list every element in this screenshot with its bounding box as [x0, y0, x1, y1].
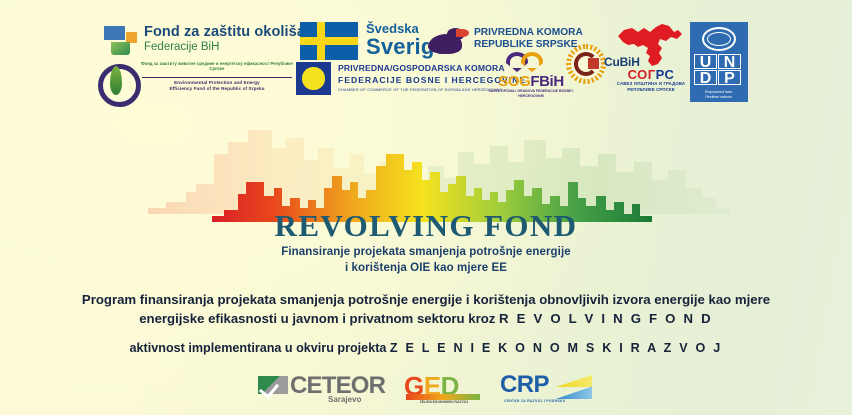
- poster-root: Fond za zaštitu okoliša Federacije BiH Ф…: [0, 0, 852, 415]
- sogrs-name-part2: РС: [656, 67, 675, 82]
- sogfbih-name-part1: SOG: [498, 73, 530, 90]
- sogfbih-name: SOGFBiH: [488, 73, 574, 90]
- cubih-square-icon: [588, 58, 599, 69]
- crp-name: CRP: [500, 371, 549, 399]
- logo-undp[interactable]: U N D P Empowered lives. Resilient natio…: [690, 22, 748, 102]
- activity-line-pre: aktivnost implementirana u okviru projek…: [130, 341, 387, 355]
- logo-ged[interactable]: GED ZELENI EKONOMSKI RAZVOJ: [404, 374, 496, 406]
- program-paragraph-line2-spaced: R E V O L V I N G F O N D: [499, 311, 713, 326]
- logo-fond-za-zastitu-okolisa-fbih[interactable]: Fond za zaštitu okoliša Federacije BiH: [104, 24, 294, 60]
- un-emblem-icon: [702, 27, 736, 51]
- sogrs-name-part1: СОГ: [628, 67, 656, 82]
- activity-line: aktivnost implementirana u okviru projek…: [40, 341, 812, 355]
- logo-ceteor[interactable]: CETEOR Sarajevo: [258, 374, 390, 406]
- undp-caption: Empowered lives. Resilient nations.: [693, 90, 745, 99]
- fzo-line1: Fond za zaštitu okoliša: [144, 24, 305, 40]
- fzo-mark-icon: [104, 26, 138, 56]
- sogrs-caption: САВЕЗ ОПШТИНА И ГРАДОВА РЕПУБЛИКЕ СРПСКЕ: [608, 81, 694, 93]
- pkrs-line2: REPUBLIKE SRPSKE: [474, 39, 578, 50]
- pkrs-line1: PRIVREDNA KOMORA: [474, 27, 583, 38]
- subtitle-line-1: Finansiranje projekata smanjenja potrošn…: [0, 246, 852, 258]
- epeef-english-line1: Environmental Protection and Energy: [174, 80, 260, 85]
- sogrs-name: СОГРС: [608, 67, 694, 82]
- sogrs-caption-line1: САВЕЗ ОПШТИНА И ГРАДОВА: [617, 81, 685, 86]
- sweden-flag-icon: [300, 22, 358, 60]
- undp-letter-p: P: [718, 70, 741, 85]
- undp-letter-u: U: [694, 54, 717, 69]
- undp-letter-d: D: [694, 70, 717, 85]
- epeef-english-text: Environmental Protection and Energy Effi…: [138, 80, 296, 92]
- partner-logo-band: Fond za zaštitu okoliša Federacije BiH Ф…: [0, 0, 852, 112]
- sogrs-caption-line2: РЕПУБЛИКЕ СРПСКЕ: [627, 87, 675, 92]
- pkfbih-line3: CHAMBER OF COMMERCE OF THE FEDERATION OF…: [338, 87, 502, 92]
- program-paragraph-line1: Program finansiranja projekata smanjenja…: [82, 292, 770, 307]
- bird-icon: [428, 28, 468, 54]
- twin-hearts-icon: [506, 52, 558, 74]
- epeef-english-line2: Efficiency Fund of the Republic of Srpsk…: [170, 86, 265, 91]
- logo-crp[interactable]: CRP CENTAR ZA RAZVOJ I PODRŠKU: [500, 374, 596, 406]
- undp-caption-line2: Resilient nations.: [705, 95, 732, 99]
- epeef-cyrillic-text: Фонд за заштиту животне средине и енерге…: [138, 61, 296, 72]
- republika-srpska-map-icon: [614, 20, 686, 68]
- implementer-logo-band: CETEOR Sarajevo GED ZELENI EKONOMSKI RAZ…: [0, 372, 852, 412]
- sogfbih-name-part2: FBiH: [530, 73, 563, 90]
- subtitle-line-2: i korištenja OIE kao mjere EE: [0, 262, 852, 274]
- pkfbih-line1: PRIVREDNA/GOSPODARSKA KOMORA: [338, 63, 505, 73]
- crp-swoosh-icon: [556, 375, 592, 399]
- sogfbih-caption: SAVEZ OPĆINA I GRADOVA FEDERACIJE BOSNE …: [488, 89, 574, 98]
- ceteor-checkmark-icon: [258, 376, 288, 394]
- crp-caption: CENTAR ZA RAZVOJ I PODRŠKU: [504, 399, 566, 403]
- logo-epeef-republike-srpske[interactable]: Фонд за заштиту животне средине и енерге…: [98, 60, 298, 102]
- fzo-line2: Federacije BiH: [144, 41, 219, 53]
- ceteor-city: Sarajevo: [328, 395, 361, 404]
- epeef-leaf-icon: [110, 66, 122, 95]
- sun-square-icon: [296, 62, 331, 95]
- activity-line-spaced: Z E L E N I E K O N O M S K I R A Z V O …: [390, 341, 723, 355]
- ged-caption: ZELENI EKONOMSKI RAZVOJ: [404, 400, 484, 404]
- epeef-divider: [142, 77, 292, 78]
- program-paragraph-line2-pre: energijske efikasnosti u javnom i privat…: [139, 311, 495, 326]
- logo-sogrs[interactable]: СОГРС САВЕЗ ОПШТИНА И ГРАДОВА РЕПУБЛИКЕ …: [608, 20, 694, 98]
- undp-letter-n: N: [718, 54, 741, 69]
- undp-letters: U N D P: [694, 54, 744, 88]
- logo-sogfbih[interactable]: SOGFBiH SAVEZ OPĆINA I GRADOVA FEDERACIJ…: [488, 52, 574, 100]
- program-paragraph: Program finansiranja projekata smanjenja…: [40, 290, 812, 328]
- undp-caption-line1: Empowered lives.: [705, 90, 733, 94]
- page-title: REVOLVING FOND: [0, 208, 852, 244]
